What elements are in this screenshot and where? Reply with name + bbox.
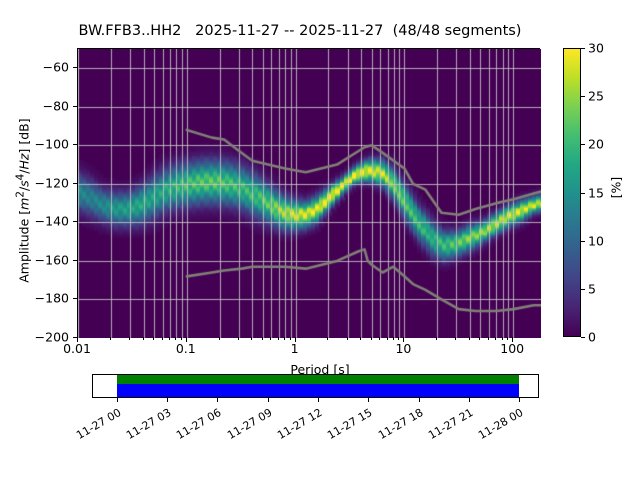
colorbar-tick (581, 48, 585, 49)
x-axis-minor-tick (284, 337, 285, 340)
y-axis-tick-label: −60 (25, 60, 69, 75)
colorbar-tick (581, 193, 585, 194)
coverage-tick (117, 398, 118, 402)
x-axis-minor-tick (387, 337, 388, 340)
coverage-segment-psd-coverage (117, 375, 519, 384)
x-axis-tick-label: 0.1 (156, 341, 216, 356)
y-axis-tick-label: −100 (25, 137, 69, 152)
coverage-tick (318, 398, 319, 402)
y-axis-tick (73, 183, 77, 184)
colorbar-tick-label: 0 (588, 330, 596, 345)
coverage-tick-label: 11-27 12 (264, 406, 324, 448)
colorbar-tick (581, 241, 585, 242)
x-axis-minor-tick (219, 337, 220, 340)
x-axis-minor-tick (469, 337, 470, 340)
x-axis-minor-tick (495, 337, 496, 340)
coverage-tick (469, 398, 470, 402)
colorbar-title: [%] (609, 128, 624, 248)
plot-title: BW.FFB3..HH2 2025-11-27 -- 2025-11-27 (4… (0, 23, 600, 39)
y-axis-tick (73, 67, 77, 68)
colorbar-gradient (564, 49, 580, 336)
y-axis-tick (73, 144, 77, 145)
coverage-tick-label: 11-27 03 (113, 406, 173, 448)
x-axis-minor-tick (238, 337, 239, 340)
colorbar-tick (581, 337, 585, 338)
colorbar (563, 48, 581, 337)
coverage-tick (368, 398, 369, 402)
colorbar-tick-label: 10 (588, 233, 604, 248)
y-axis-tick (73, 106, 77, 107)
y-axis-tick (73, 221, 77, 222)
x-axis-minor-tick (507, 337, 508, 340)
colorbar-tick-label: 30 (588, 41, 604, 56)
x-axis-tick-label: 1 (265, 341, 325, 356)
coverage-tick (167, 398, 168, 402)
x-axis-minor-tick (110, 337, 111, 340)
x-axis-minor-tick (436, 337, 437, 340)
coverage-segment-data-coverage (117, 384, 519, 397)
x-axis-minor-tick (290, 337, 291, 340)
x-axis-minor-tick (153, 337, 154, 340)
x-axis-minor-tick (251, 337, 252, 340)
y-axis-tick-label: −80 (25, 98, 69, 113)
colorbar-tick-label: 5 (588, 281, 596, 296)
x-axis-minor-tick (393, 337, 394, 340)
y-axis-title: Amplitude [m2/s4/Hz] [dB] (14, 81, 31, 321)
x-axis-minor-tick (129, 337, 130, 340)
coverage-tick-label: 11-27 15 (315, 406, 375, 448)
x-axis-minor-tick (398, 337, 399, 340)
coverage-tick-label: 11-27 18 (365, 406, 425, 448)
coverage-tick (419, 398, 420, 402)
y-axis-tick (73, 260, 77, 261)
x-axis-minor-tick (455, 337, 456, 340)
coverage-bar[interactable] (92, 374, 539, 398)
coverage-tick (217, 398, 218, 402)
x-axis-minor-tick (379, 337, 380, 340)
colorbar-tick-label: 25 (588, 89, 604, 104)
x-axis-tick-label: 0.01 (47, 341, 107, 356)
x-axis-minor-tick (278, 337, 279, 340)
x-axis-minor-tick (327, 337, 328, 340)
coverage-tick (268, 398, 269, 402)
y-axis-tick-label: −120 (25, 175, 69, 190)
x-axis-minor-tick (371, 337, 372, 340)
x-axis-minor-tick (347, 337, 348, 340)
colorbar-tick (581, 96, 585, 97)
x-axis-minor-tick (360, 337, 361, 340)
ppsd-figure: BW.FFB3..HH2 2025-11-27 -- 2025-11-27 (4… (0, 0, 640, 480)
y-axis-tick-label: −180 (25, 291, 69, 306)
coverage-tick-label: 11-27 06 (164, 406, 224, 448)
y-axis-tick-label: −160 (25, 252, 69, 267)
coverage-tick-label: 11-27 00 (63, 406, 123, 448)
x-axis-minor-tick (175, 337, 176, 340)
x-axis-minor-tick (169, 337, 170, 340)
x-axis-minor-tick (262, 337, 263, 340)
x-axis-minor-tick (488, 337, 489, 340)
coverage-tick-label: 11-28 00 (465, 406, 525, 448)
colorbar-tick-label: 15 (588, 185, 604, 200)
x-axis-tick-label: 100 (482, 341, 542, 356)
x-axis-minor-tick (162, 337, 163, 340)
noise-model-lines (78, 49, 541, 338)
colorbar-tick-label: 20 (588, 137, 604, 152)
coverage-tick (519, 398, 520, 402)
x-axis-minor-tick (181, 337, 182, 340)
y-axis-tick (73, 298, 77, 299)
colorbar-tick (581, 289, 585, 290)
x-axis-minor-tick (270, 337, 271, 340)
y-axis-tick-label: −140 (25, 214, 69, 229)
coverage-tick-label: 11-27 09 (214, 406, 274, 448)
coverage-tick-label: 11-27 21 (415, 406, 475, 448)
colorbar-tick (581, 144, 585, 145)
x-axis-minor-tick (502, 337, 503, 340)
x-axis-minor-tick (143, 337, 144, 340)
ppsd-plot-area[interactable] (77, 48, 540, 337)
x-axis-tick-label: 10 (373, 341, 433, 356)
x-axis-minor-tick (479, 337, 480, 340)
